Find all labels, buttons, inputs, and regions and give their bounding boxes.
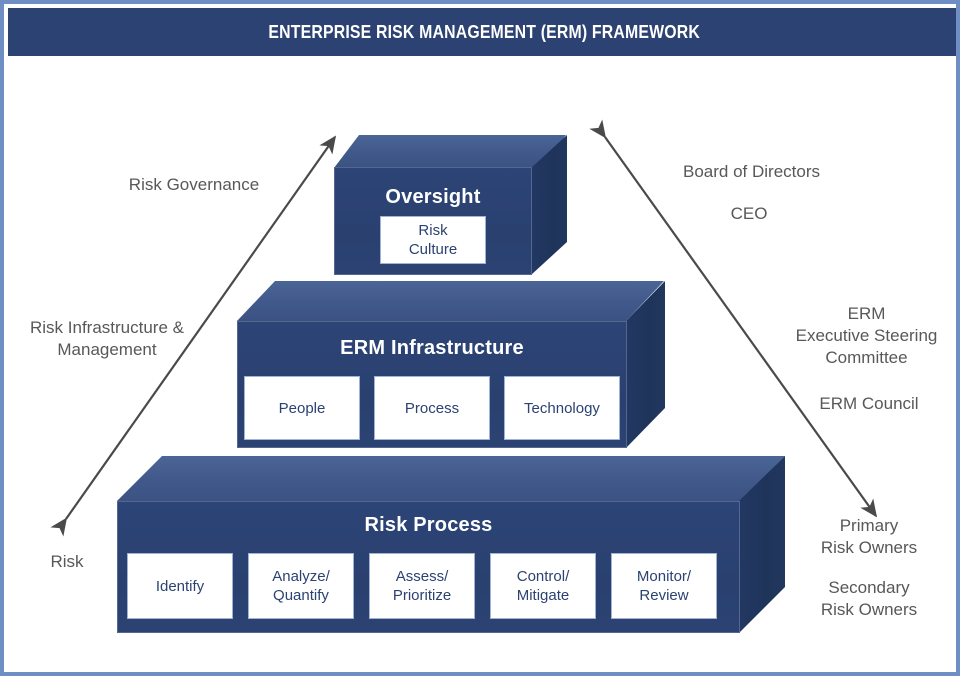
sub-box-analyze-quantify[interactable]: Analyze/ Quantify [248,553,354,619]
sub-box-assess-prioritize[interactable]: Assess/ Prioritize [369,553,475,619]
sub-box-control-mitigate[interactable]: Control/ Mitigate [490,553,596,619]
annotation-ceo: CEO [694,203,804,225]
annotation-erm-executive-steering-committee: ERM Executive Steering Committee [774,303,959,369]
annotation-secondary-risk-owners: Secondary Risk Owners [789,577,949,621]
annotation-erm-council: ERM Council [794,393,944,415]
annotation-primary-risk-owners: Primary Risk Owners [789,515,949,559]
sub-box-monitor-review[interactable]: Monitor/ Review [611,553,717,619]
tier-risk-process-top-face [117,456,785,501]
annotation-risk-governance: Risk Governance [104,174,284,196]
annotation-risk-infrastructure-management: Risk Infrastructure & Management [12,317,202,361]
erm-framework-diagram: ENTERPRISE RISK MANAGEMENT (ERM) FRAMEWO… [0,0,960,676]
tier-risk-process-title: Risk Process [117,514,740,537]
sub-box-identify[interactable]: Identify [127,553,233,619]
annotation-risk: Risk [22,551,112,573]
annotation-board-of-directors: Board of Directors [659,161,844,183]
tier-risk-process-items: Identify Analyze/ Quantify Assess/ Prior… [127,553,731,619]
